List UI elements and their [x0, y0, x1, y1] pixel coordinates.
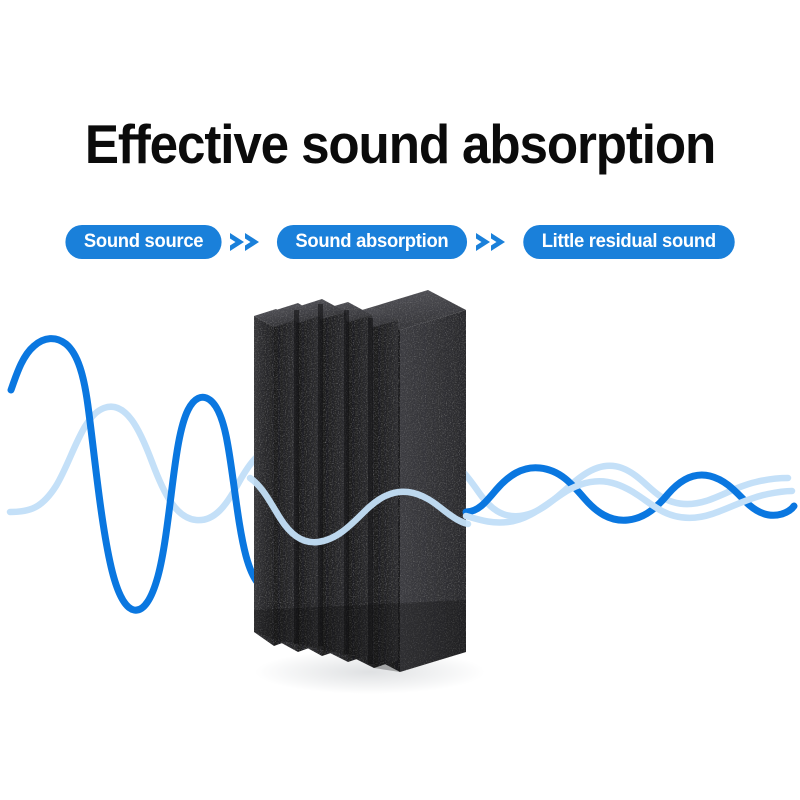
acoustic-foam-block — [254, 290, 485, 694]
double-chevron-right-icon-2 — [470, 225, 520, 259]
step-pill-little-residual-sound[interactable]: Little residual sound — [523, 225, 734, 259]
step-pill-sound-absorption[interactable]: Sound absorption — [277, 225, 467, 259]
step-pill-sound-source[interactable]: Sound source — [65, 225, 221, 259]
process-steps: Sound source Sound absorption Little res… — [0, 222, 800, 262]
page-title: Effective sound absorption — [28, 112, 772, 176]
double-chevron-right-icon-1 — [224, 225, 274, 259]
promo-banner: Effective sound absorption Sound source … — [0, 0, 800, 800]
sound-absorption-illustration — [0, 280, 800, 720]
